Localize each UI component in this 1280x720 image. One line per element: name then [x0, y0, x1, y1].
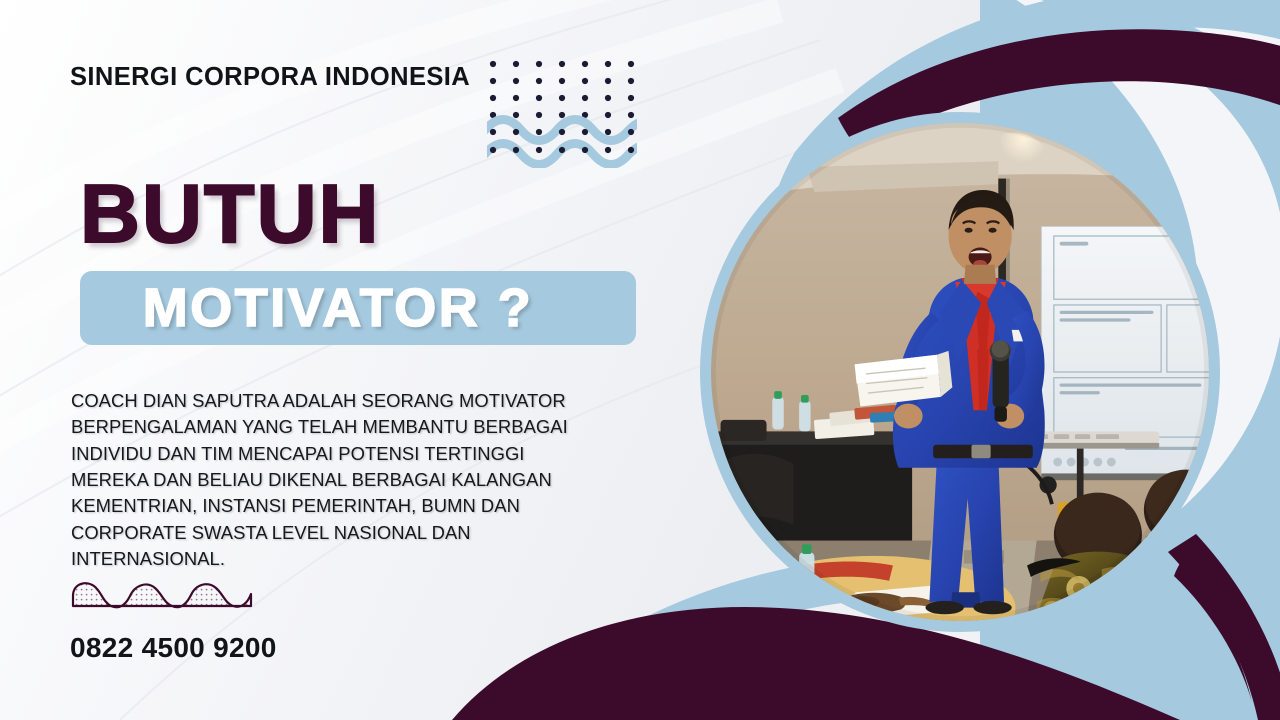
squiggle-ribbon-icon — [70, 578, 260, 612]
brand-title: SINERGI CORPORA INDONESIA — [70, 63, 470, 92]
phone-number[interactable]: 0822 4500 9200 — [70, 632, 277, 664]
speaker-photo-illustration — [711, 123, 1209, 621]
speaker-photo-circle — [700, 112, 1220, 632]
page-title: BUTUH — [80, 172, 380, 255]
poster-canvas: SINERGI CORPORA INDONESIA BUTUH MOTIVATO… — [0, 0, 1280, 720]
dot-grid-icon — [487, 58, 637, 168]
subheadline-text: MOTIVATOR ? — [50, 281, 626, 335]
speaker-photo-inner — [711, 123, 1209, 621]
body-paragraph: COACH DIAN SAPUTRA ADALAH SEORANG MOTIVA… — [71, 388, 581, 572]
blue-wave-lines — [487, 120, 637, 165]
